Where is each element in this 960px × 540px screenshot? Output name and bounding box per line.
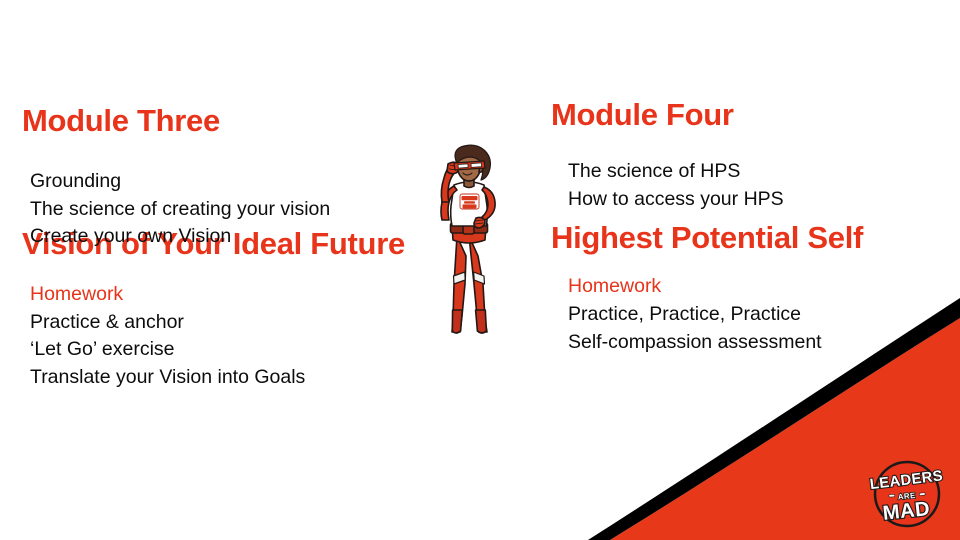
left-title-line-1: Module Three [22, 101, 405, 142]
left-topic-2: The science of creating your vision [30, 196, 410, 224]
right-homework-heading: Homework [568, 273, 928, 301]
left-topic-3: Create your own Vision [30, 223, 410, 251]
left-homework-heading: Homework [30, 281, 410, 309]
right-homework-item-2: Self-compassion assessment [568, 329, 928, 357]
right-body-spacer [568, 213, 928, 243]
right-topic-2: How to access your HPS [568, 186, 928, 214]
leaders-are-mad-logo: LEADERS ARE MAD [868, 455, 946, 533]
superhero-woman-icon [424, 144, 508, 340]
left-homework-item-3: Translate your Vision into Goals [30, 364, 410, 392]
right-title-line-1: Module Four [551, 95, 863, 136]
right-topic-1: The science of HPS [568, 158, 928, 186]
logo-dash-left [889, 495, 895, 497]
right-homework-item-1: Practice, Practice, Practice [568, 301, 928, 329]
right-body-spacer-2 [568, 243, 928, 273]
left-module-body: Grounding The science of creating your v… [30, 168, 410, 392]
left-homework-item-2: ‘Let Go’ exercise [30, 336, 410, 364]
logo-dash-right [919, 493, 925, 495]
left-topic-1: Grounding [30, 168, 410, 196]
slide-canvas: Module Three Vision of Your Ideal Future… [0, 0, 960, 540]
right-module-body: The science of HPS How to access your HP… [568, 158, 928, 356]
left-homework-item-1: Practice & anchor [30, 309, 410, 337]
left-body-spacer [30, 251, 410, 281]
